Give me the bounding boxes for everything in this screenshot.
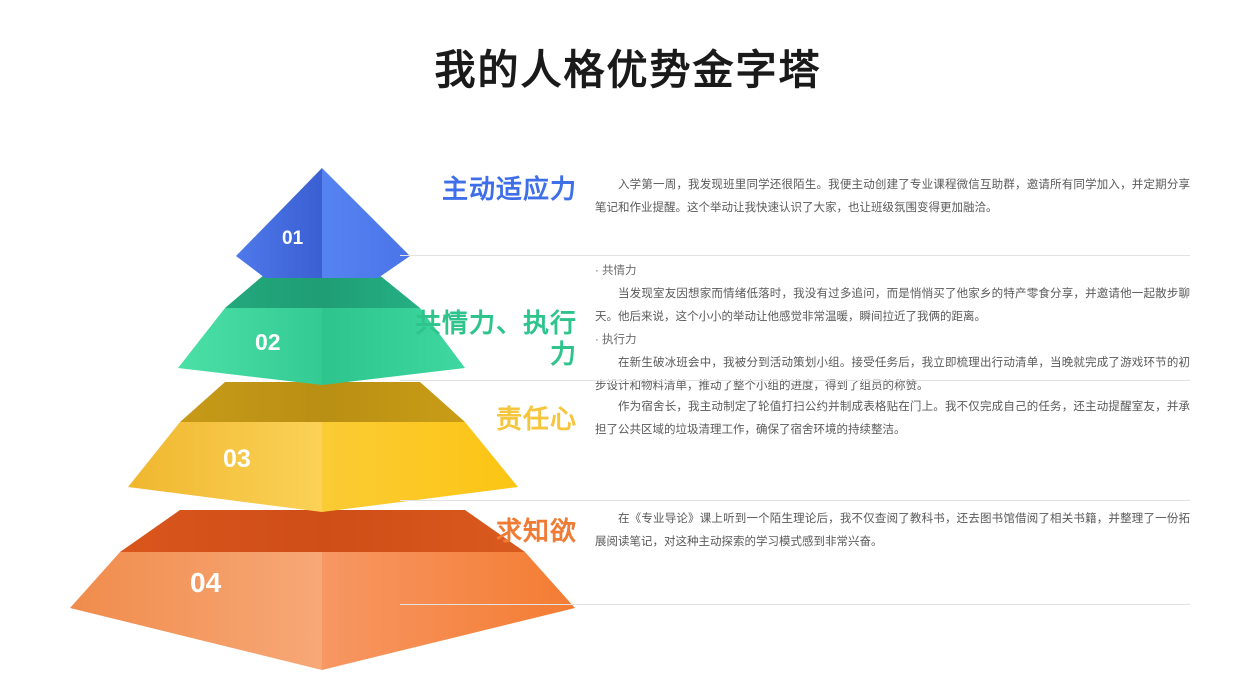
tier-row-03: 责任心 作为宿舍长，我主动制定了轮值打扫公约并制成表格贴在门上。我不仅完成自己的… bbox=[400, 396, 1190, 442]
page-title: 我的人格优势金字塔 bbox=[0, 36, 1256, 96]
row-divider-3 bbox=[400, 500, 1190, 501]
tier-number-03: 03 bbox=[223, 445, 251, 473]
tier-body-02: · 共情力 当发现室友因想家而情绪低落时，我没有过多追问，而是悄悄买了他家乡的特… bbox=[595, 260, 1190, 398]
tier-number-02: 02 bbox=[255, 329, 281, 355]
tier-label-03: 责任心 bbox=[400, 396, 595, 435]
row-divider-4 bbox=[400, 604, 1190, 605]
pyramid-tier-01: 01 bbox=[236, 168, 410, 278]
tier-paragraph-01: 入学第一周，我发现班里同学还很陌生。我便主动创建了专业课程微信互助群，邀请所有同… bbox=[595, 174, 1190, 220]
tier-number-01: 01 bbox=[282, 228, 304, 249]
content-column: 主动适应力 入学第一周，我发现班里同学还很陌生。我便主动创建了专业课程微信互助群… bbox=[400, 160, 1200, 640]
tier-label-02: 共情力、执行力 bbox=[400, 260, 595, 370]
tier-paragraph-03: 作为宿舍长，我主动制定了轮值打扫公约并制成表格贴在门上。我不仅完成自己的任务，还… bbox=[595, 396, 1190, 442]
tier-body-03: 作为宿舍长，我主动制定了轮值打扫公约并制成表格贴在门上。我不仅完成自己的任务，还… bbox=[595, 396, 1190, 442]
tier-row-01: 主动适应力 入学第一周，我发现班里同学还很陌生。我便主动创建了专业课程微信互助群… bbox=[400, 174, 1190, 220]
tier-paragraph-02a: 当发现室友因想家而情绪低落时，我没有过多追问，而是悄悄买了他家乡的特产零食分享，… bbox=[595, 283, 1190, 329]
tier-subhead-02b: · 执行力 bbox=[595, 329, 1190, 352]
tier-row-04: 求知欲 在《专业导论》课上听到一个陌生理论后，我不仅查阅了教科书，还去图书馆借阅… bbox=[400, 508, 1190, 554]
tier-label-01: 主动适应力 bbox=[400, 174, 595, 205]
row-divider-1 bbox=[400, 255, 1190, 256]
tier-number-04: 04 bbox=[190, 567, 222, 598]
tier-paragraph-04: 在《专业导论》课上听到一个陌生理论后，我不仅查阅了教科书，还去图书馆借阅了相关书… bbox=[595, 508, 1190, 554]
tier-subhead-02a: · 共情力 bbox=[595, 260, 1190, 283]
row-divider-2 bbox=[400, 380, 1190, 381]
tier-paragraph-02b: 在新生破冰班会中，我被分到活动策划小组。接受任务后，我立即梳理出行动清单，当晚就… bbox=[595, 352, 1190, 398]
tier-row-02: 共情力、执行力 · 共情力 当发现室友因想家而情绪低落时，我没有过多追问，而是悄… bbox=[400, 260, 1190, 398]
tier-label-04: 求知欲 bbox=[400, 508, 595, 547]
tier-body-04: 在《专业导论》课上听到一个陌生理论后，我不仅查阅了教科书，还去图书馆借阅了相关书… bbox=[595, 508, 1190, 554]
tier-body-01: 入学第一周，我发现班里同学还很陌生。我便主动创建了专业课程微信互助群，邀请所有同… bbox=[595, 174, 1190, 220]
